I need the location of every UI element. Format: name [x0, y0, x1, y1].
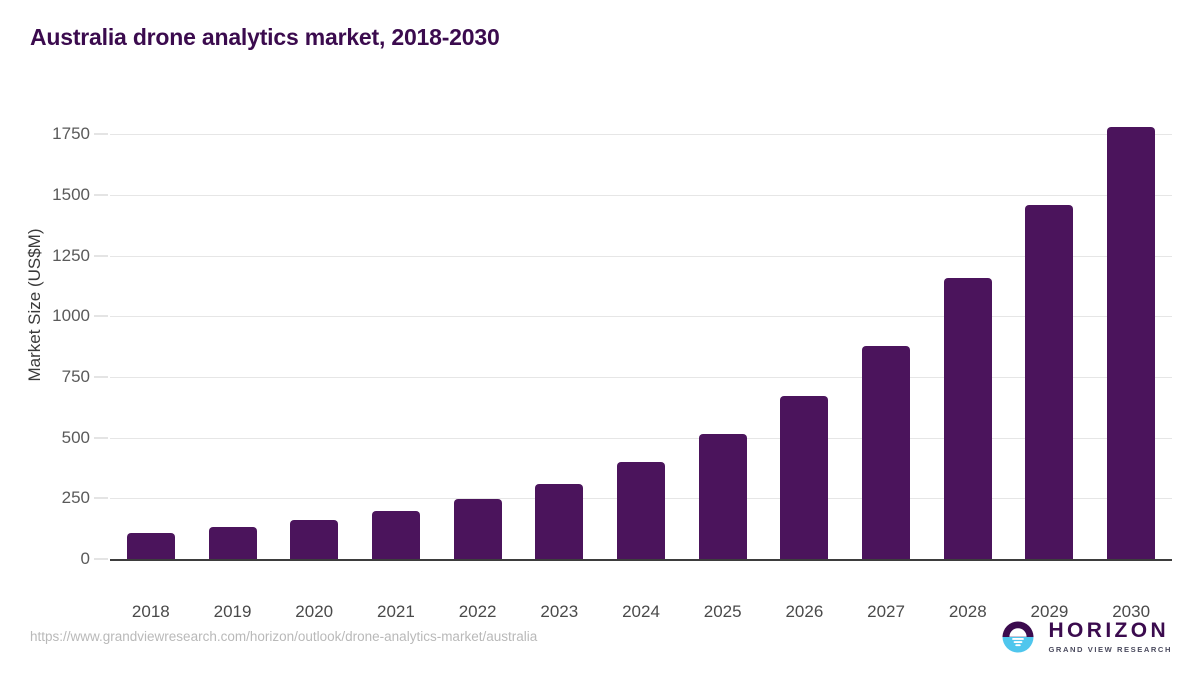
y-tick-label-0: 0: [0, 549, 90, 569]
x-tick-label-2023: 2023: [514, 602, 604, 622]
bar-2030[interactable]: [1107, 127, 1155, 559]
plot-area: 02505007501000125015001750 2018201920202…: [110, 110, 1172, 559]
page-title: Australia drone analytics market, 2018-2…: [30, 24, 500, 51]
chart-page: Australia drone analytics market, 2018-2…: [0, 0, 1200, 675]
horizon-logo-text: HORIZON GRAND VIEW RESEARCH: [1048, 620, 1172, 654]
y-tick-label-1250: 1250: [0, 246, 90, 266]
bar-2020[interactable]: [290, 520, 338, 559]
gridline-1250: [110, 256, 1172, 257]
source-url[interactable]: https://www.grandviewresearch.com/horizo…: [30, 629, 537, 644]
bar-2022[interactable]: [454, 499, 502, 559]
y-tick-mark-0: [94, 559, 108, 560]
y-tick-mark-1750: [94, 134, 108, 135]
gridline-0: [110, 559, 1172, 561]
x-tick-label-2019: 2019: [188, 602, 278, 622]
y-tick-label-1000: 1000: [0, 306, 90, 326]
x-tick-label-2020: 2020: [269, 602, 359, 622]
y-tick-mark-250: [94, 498, 108, 499]
x-tick-label-2018: 2018: [106, 602, 196, 622]
gridline-1750: [110, 134, 1172, 135]
bar-2024[interactable]: [617, 462, 665, 559]
logo-tagline: GRAND VIEW RESEARCH: [1048, 646, 1172, 654]
y-tick-mark-1000: [94, 316, 108, 317]
y-tick-mark-1250: [94, 255, 108, 256]
y-tick-label-750: 750: [0, 367, 90, 387]
x-tick-label-2022: 2022: [433, 602, 523, 622]
y-tick-label-500: 500: [0, 428, 90, 448]
bar-2027[interactable]: [862, 346, 910, 559]
bar-2018[interactable]: [127, 533, 175, 559]
y-tick-mark-500: [94, 437, 108, 438]
x-tick-label-2026: 2026: [759, 602, 849, 622]
gridline-1500: [110, 195, 1172, 196]
horizon-logo-icon: [998, 617, 1038, 657]
gridline-500: [110, 438, 1172, 439]
bar-2023[interactable]: [535, 484, 583, 559]
gridline-1000: [110, 316, 1172, 317]
y-tick-mark-1500: [94, 194, 108, 195]
horizon-logo[interactable]: HORIZON GRAND VIEW RESEARCH: [998, 617, 1172, 657]
y-tick-mark-750: [94, 376, 108, 377]
bar-2021[interactable]: [372, 511, 420, 559]
chart-canvas: Market Size (US$M) 025050075010001250150…: [0, 80, 1200, 600]
bar-2025[interactable]: [699, 434, 747, 559]
x-tick-label-2024: 2024: [596, 602, 686, 622]
bar-2019[interactable]: [209, 527, 257, 559]
x-tick-label-2021: 2021: [351, 602, 441, 622]
y-tick-label-1750: 1750: [0, 124, 90, 144]
gridline-750: [110, 377, 1172, 378]
bar-2028[interactable]: [944, 278, 992, 559]
y-tick-label-1500: 1500: [0, 185, 90, 205]
x-tick-label-2025: 2025: [678, 602, 768, 622]
bar-2026[interactable]: [780, 396, 828, 559]
bar-2029[interactable]: [1025, 205, 1073, 559]
logo-wordmark: HORIZON: [1048, 620, 1172, 641]
y-tick-label-250: 250: [0, 488, 90, 508]
x-tick-label-2027: 2027: [841, 602, 931, 622]
